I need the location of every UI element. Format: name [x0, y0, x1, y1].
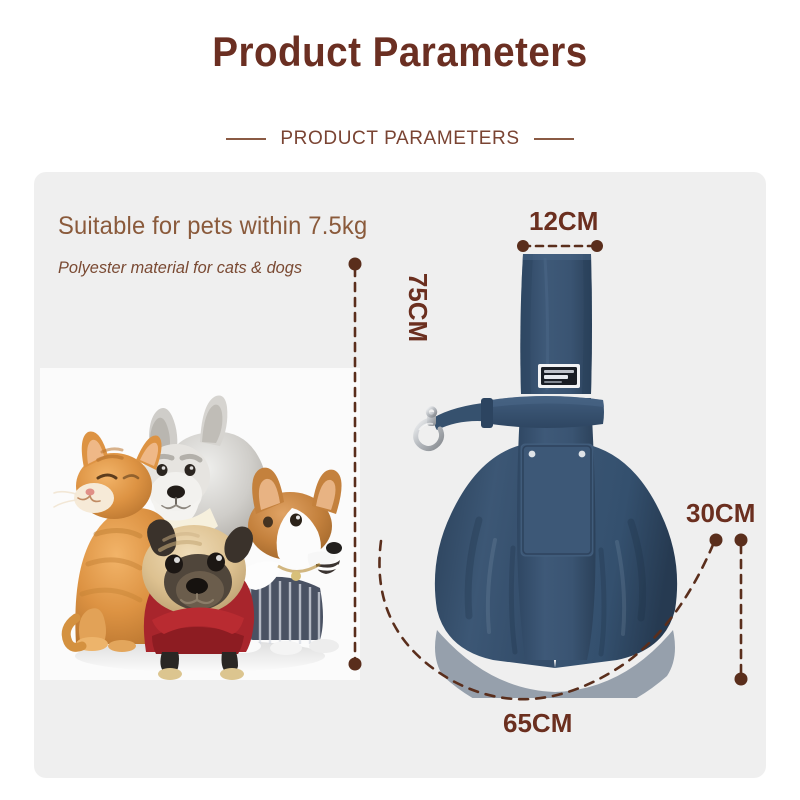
dimension-label-height: 75CM — [402, 273, 433, 342]
infographic-root: Product Parameters PRODUCT PARAMETERS Su… — [0, 0, 800, 800]
dimension-label-width-top: 12CM — [529, 206, 598, 237]
dim-line-12cm — [517, 240, 603, 252]
dim-arc-65cm — [379, 534, 722, 700]
dim-line-30cm — [735, 534, 748, 686]
dim-line-75cm — [349, 258, 362, 671]
dimension-label-width-bottom: 65CM — [503, 708, 572, 739]
dimension-label-depth: 30CM — [686, 498, 755, 529]
dimension-overlay — [0, 0, 800, 800]
